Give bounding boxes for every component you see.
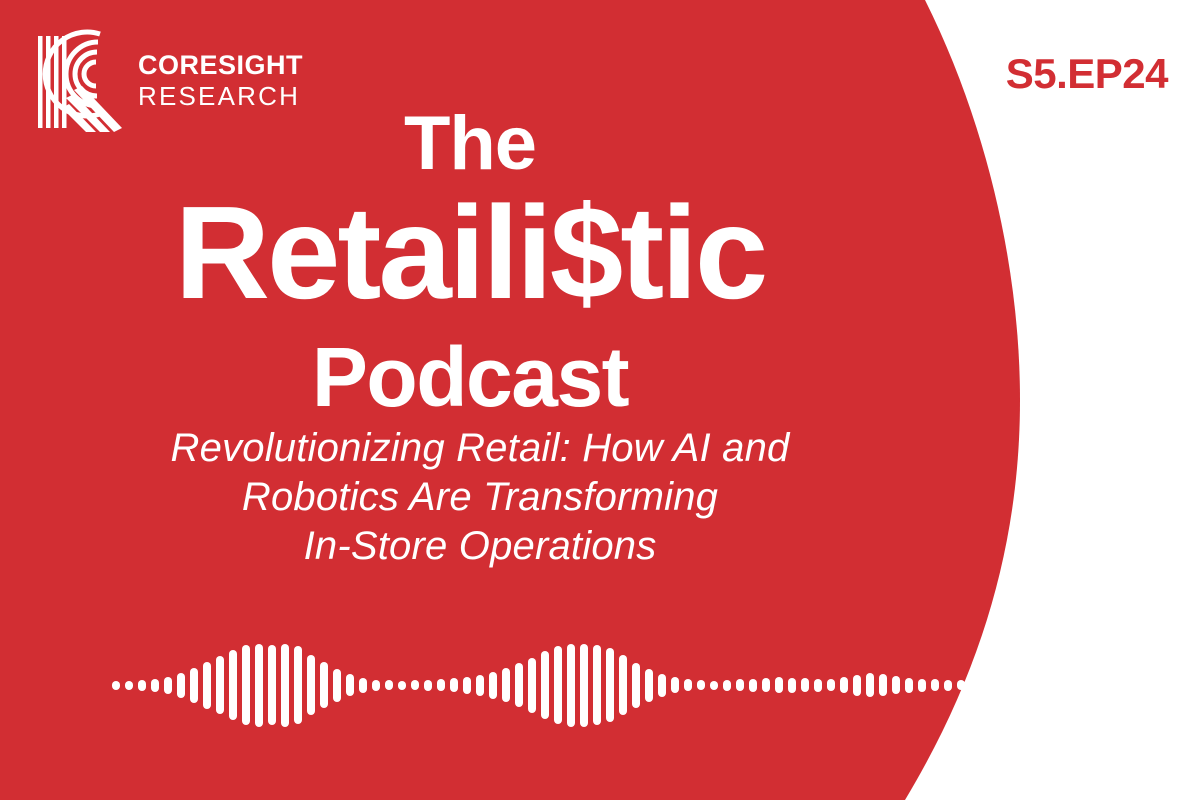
show-title-line-main: Retaili$tic bbox=[0, 186, 940, 321]
waveform-bar bbox=[437, 679, 445, 691]
waveform-bar bbox=[684, 679, 692, 691]
waveform-bar bbox=[138, 680, 146, 691]
waveform-bar bbox=[996, 681, 1004, 689]
waveform-bar bbox=[112, 681, 120, 690]
waveform-bar bbox=[762, 678, 770, 692]
waveform-bar bbox=[307, 655, 315, 715]
waveform-bar bbox=[723, 680, 731, 691]
waveform-bar bbox=[892, 676, 900, 694]
waveform-bar bbox=[190, 668, 198, 703]
episode-badge: S5.EP24 bbox=[1006, 50, 1168, 98]
waveform-bar bbox=[333, 669, 341, 702]
waveform-bar bbox=[827, 679, 835, 691]
waveform-bar bbox=[489, 672, 497, 699]
waveform-bar bbox=[775, 677, 783, 693]
waveform-bar bbox=[463, 677, 471, 694]
waveform-bar bbox=[346, 674, 354, 696]
waveform-bar bbox=[619, 655, 627, 715]
brand-name-primary: CORESIGHT bbox=[138, 52, 303, 79]
waveform-bar bbox=[866, 673, 874, 697]
waveform-bar bbox=[632, 663, 640, 708]
waveform-bar bbox=[541, 651, 549, 719]
waveform-bar bbox=[853, 675, 861, 696]
episode-title-line-3: In-Store Operations bbox=[0, 522, 960, 571]
waveform-bar bbox=[983, 681, 991, 690]
waveform-bar bbox=[385, 680, 393, 690]
waveform-bar bbox=[424, 680, 432, 691]
waveform-bar bbox=[398, 681, 406, 690]
waveform-bar bbox=[879, 674, 887, 696]
waveform-bar bbox=[294, 646, 302, 724]
waveform-bar bbox=[567, 644, 575, 727]
waveform-bar bbox=[931, 679, 939, 691]
waveform-bar bbox=[242, 645, 250, 725]
waveform-bar bbox=[528, 658, 536, 713]
waveform-bar bbox=[411, 680, 419, 690]
waveform-bar bbox=[372, 680, 380, 691]
waveform-bar bbox=[580, 644, 588, 727]
waveform-bar bbox=[905, 678, 913, 693]
waveform-bar bbox=[944, 680, 952, 691]
podcast-cover-image: CORESIGHT RESEARCH S5.EP24 The Retaili$t… bbox=[0, 0, 1200, 800]
waveform-bar bbox=[697, 680, 705, 690]
waveform-bar bbox=[736, 679, 744, 691]
waveform-bar bbox=[320, 662, 328, 708]
waveform-bar bbox=[177, 673, 185, 698]
waveform-bar bbox=[957, 680, 965, 690]
waveform-bar bbox=[359, 678, 367, 693]
waveform-bar bbox=[970, 681, 978, 690]
show-title-line-the: The bbox=[0, 106, 940, 182]
waveform-bar bbox=[164, 677, 172, 694]
waveform-bar bbox=[814, 679, 822, 692]
waveform-bar bbox=[255, 644, 263, 727]
waveform-bar bbox=[593, 645, 601, 725]
waveform-bar bbox=[645, 669, 653, 702]
coresight-wordmark: CORESIGHT RESEARCH bbox=[138, 52, 303, 109]
audio-waveform-icon bbox=[112, 625, 852, 745]
waveform-bar bbox=[229, 650, 237, 720]
waveform-bar bbox=[502, 668, 510, 702]
waveform-bar bbox=[840, 677, 848, 693]
waveform-bar bbox=[281, 644, 289, 727]
waveform-bar bbox=[476, 675, 484, 696]
waveform-bar bbox=[801, 678, 809, 692]
show-title-line-podcast: Podcast bbox=[0, 335, 940, 419]
waveform-bar bbox=[749, 679, 757, 692]
waveform-bar bbox=[671, 677, 679, 693]
waveform-bar bbox=[450, 678, 458, 692]
show-title: The Retaili$tic Podcast bbox=[0, 106, 940, 419]
waveform-bar bbox=[788, 678, 796, 693]
waveform-bar bbox=[710, 681, 718, 690]
episode-title: Revolutionizing Retail: How AI and Robot… bbox=[0, 424, 960, 572]
waveform-bar bbox=[268, 645, 276, 725]
waveform-bar bbox=[203, 662, 211, 709]
waveform-bar bbox=[515, 663, 523, 707]
waveform-bar bbox=[918, 679, 926, 692]
waveform-bar bbox=[606, 648, 614, 722]
episode-title-line-1: Revolutionizing Retail: How AI and bbox=[0, 424, 960, 473]
brand-name-secondary: RESEARCH bbox=[138, 83, 303, 109]
waveform-bar bbox=[554, 646, 562, 724]
episode-title-line-2: Robotics Are Transforming bbox=[0, 473, 960, 522]
waveform-bar bbox=[125, 681, 133, 690]
waveform-bar bbox=[151, 679, 159, 692]
waveform-bar bbox=[216, 656, 224, 714]
waveform-bar bbox=[658, 674, 666, 697]
